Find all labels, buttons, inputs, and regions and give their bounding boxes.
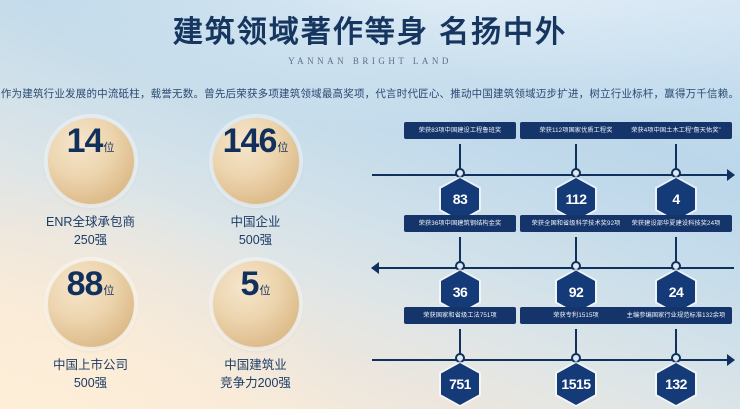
award-node[interactable]: 荣获全国和省级科学技术奖92项 92	[520, 215, 632, 232]
award-tag: 荣获83项中国建设工程鲁班奖	[404, 122, 516, 139]
stat-coin: 88 位	[48, 261, 134, 347]
timeline-row: 荣获36项中国建筑钢结构金奖 36 荣获全国和省级科学技术奖92项 92 荣获建…	[372, 215, 734, 308]
awards-timeline: 荣获83项中国建设工程鲁班奖 83 荣获112项国家优质工程奖 112 荣获4项…	[372, 122, 734, 400]
stat-label: 中国建筑业 竞争力200强	[220, 356, 291, 392]
stat-label-line1: 中国建筑业	[220, 356, 291, 374]
stat-number: 5	[241, 267, 259, 301]
stat-label-line1: ENR全球承包商	[46, 213, 135, 231]
banner-header: 建筑领域著作等身 名扬中外 YANNAN BRIGHT LAND	[0, 14, 740, 66]
stat-card: 88 位 中国上市公司 500强	[8, 261, 173, 404]
timeline-row: 荣获83项中国建设工程鲁班奖 83 荣获112项国家优质工程奖 112 荣获4项…	[372, 122, 734, 215]
stat-number: 146	[223, 124, 277, 158]
award-value: 132	[665, 376, 687, 392]
stat-unit: 位	[277, 139, 288, 155]
stat-label-line2: 250强	[46, 231, 135, 249]
award-value: 92	[569, 284, 584, 300]
award-tag: 荣获建设部华夏建设科技奖24项	[620, 215, 732, 232]
page-description: 作为建筑行业发展的中流砥柱，载誉无数。曾先后荣获多项建筑领域最高奖项，代言时代匠…	[0, 86, 740, 101]
stat-unit: 位	[103, 282, 114, 298]
stat-unit: 位	[259, 282, 270, 298]
award-tag: 主编参编国家行业规范标准132余项	[620, 307, 732, 324]
award-value: 1515	[561, 376, 590, 392]
award-value: 36	[453, 284, 468, 300]
award-tag: 荣获36项中国建筑钢结构金奖	[404, 215, 516, 232]
award-value: 112	[565, 191, 586, 207]
award-tag: 荣获112项国家优质工程奖	[520, 122, 632, 139]
stats-grid: 14 位 ENR全球承包商 250强 146 位 中国企业 500强 88 位	[8, 118, 338, 403]
award-value: 83	[453, 191, 468, 207]
award-node[interactable]: 主编参编国家行业规范标准132余项 132	[620, 307, 732, 324]
award-node[interactable]: 荣获建设部华夏建设科技奖24项 24	[620, 215, 732, 232]
stat-number: 88	[67, 267, 103, 301]
stat-card: 5 位 中国建筑业 竞争力200强	[173, 261, 338, 404]
award-tag: 荣获国家和省级工法751项	[404, 307, 516, 324]
stat-label: 中国上市公司 500强	[53, 356, 128, 392]
award-node[interactable]: 荣获83项中国建设工程鲁班奖 83	[404, 122, 516, 139]
stat-label-line2: 竞争力200强	[220, 374, 291, 392]
stat-label: ENR全球承包商 250强	[46, 213, 135, 249]
award-value: 24	[669, 284, 684, 300]
award-node[interactable]: 荣获112项国家优质工程奖 112	[520, 122, 632, 139]
stat-coin: 14 位	[48, 118, 134, 204]
award-node[interactable]: 荣获36项中国建筑钢结构金奖 36	[404, 215, 516, 232]
award-node[interactable]: 荣获4项中国土木工程“詹天佑奖” 4	[620, 122, 732, 139]
stat-unit: 位	[103, 139, 114, 155]
award-tag: 荣获全国和省级科学技术奖92项	[520, 215, 632, 232]
stat-coin: 5 位	[213, 261, 299, 347]
page-subtitle: YANNAN BRIGHT LAND	[0, 56, 740, 66]
stat-label-line2: 500强	[53, 374, 128, 392]
timeline-row: 荣获国家和省级工法751项 751 荣获专利1515项 1515 主编参编国家行…	[372, 307, 734, 400]
stat-label-line1: 中国上市公司	[53, 356, 128, 374]
promo-banner: 建筑领域著作等身 名扬中外 YANNAN BRIGHT LAND 作为建筑行业发…	[0, 0, 740, 409]
award-value: 751	[449, 376, 471, 392]
award-node[interactable]: 荣获专利1515项 1515	[520, 307, 632, 324]
arrow-right-icon	[727, 354, 735, 366]
award-node[interactable]: 荣获国家和省级工法751项 751	[404, 307, 516, 324]
arrow-left-icon	[371, 262, 379, 274]
arrow-right-icon	[727, 169, 735, 181]
stat-label-line2: 500强	[230, 231, 280, 249]
stat-label-line1: 中国企业	[230, 213, 280, 231]
stat-card: 146 位 中国企业 500强	[173, 118, 338, 261]
page-title: 建筑领域著作等身 名扬中外	[0, 14, 740, 52]
award-value: 4	[672, 191, 679, 207]
stat-card: 14 位 ENR全球承包商 250强	[8, 118, 173, 261]
stat-label: 中国企业 500强	[230, 213, 280, 249]
award-tag: 荣获4项中国土木工程“詹天佑奖”	[620, 122, 732, 139]
stat-number: 14	[67, 124, 103, 158]
award-tag: 荣获专利1515项	[520, 307, 632, 324]
stat-coin: 146 位	[213, 118, 299, 204]
